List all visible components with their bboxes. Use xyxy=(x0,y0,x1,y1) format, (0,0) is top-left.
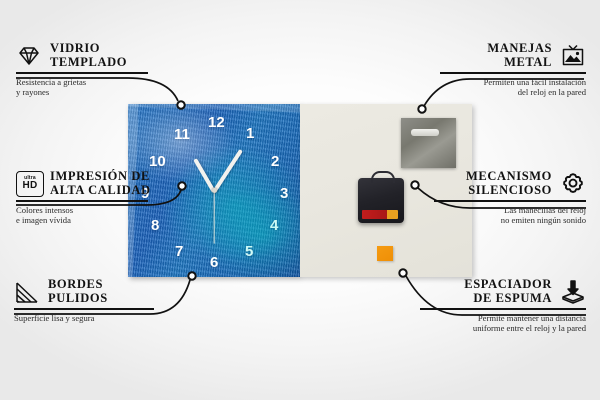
arrow-onto-pad-icon xyxy=(560,279,586,305)
callout-vidrio-templado[interactable]: VIDRIO TEMPLADO Resistencia a grietas y … xyxy=(16,42,148,98)
callout-rule xyxy=(434,200,586,202)
clock-numeral-6: 6 xyxy=(210,255,218,270)
ultra-hd-icon-large-text: HD xyxy=(22,181,37,191)
callout-sub-line2: del reloj en la pared xyxy=(440,87,586,98)
product-image-group: 12 1 2 3 4 5 6 7 8 9 10 11 xyxy=(128,104,472,277)
callout-rule xyxy=(14,308,154,310)
foam-spacer xyxy=(377,246,393,261)
callout-title-line2: PULIDOS xyxy=(48,292,108,306)
clock-movement-box xyxy=(358,178,404,223)
picture-hanger-icon xyxy=(560,43,586,69)
callout-title-line1: ESPACIADOR xyxy=(464,278,552,292)
clock-numeral-7: 7 xyxy=(175,244,183,259)
clock-numeral-5: 5 xyxy=(245,244,253,259)
clock-numeral-3: 3 xyxy=(280,186,288,201)
infographic-canvas: 12 1 2 3 4 5 6 7 8 9 10 11 xyxy=(0,0,600,400)
clock-center-hub xyxy=(212,188,217,193)
callout-rule xyxy=(16,72,148,74)
movement-hanger-loop xyxy=(371,171,395,183)
callout-impresion-alta-calidad[interactable]: ultra HD IMPRESIÓN DE ALTA CALIDAD Color… xyxy=(16,170,148,226)
callout-title-line1: VIDRIO xyxy=(50,42,127,56)
clock-minute-hand xyxy=(212,149,243,193)
callout-rule xyxy=(420,308,586,310)
battery xyxy=(362,210,398,219)
hatched-edge-icon xyxy=(14,279,40,305)
callout-rule xyxy=(440,72,586,74)
clock-numeral-8: 8 xyxy=(151,218,159,233)
callout-title-line2: METAL xyxy=(487,56,552,70)
callout-title-line2: DE ESPUMA xyxy=(464,292,552,306)
callout-espaciador-espuma[interactable]: ESPACIADOR DE ESPUMA Permite mantener un… xyxy=(420,278,586,334)
callout-sub-line2: y rayones xyxy=(16,87,148,98)
clock-front-image: 12 1 2 3 4 5 6 7 8 9 10 11 xyxy=(128,104,300,277)
callout-title-line2: SILENCIOSO xyxy=(466,184,552,198)
callout-sub-line1: Permite mantener una distancia xyxy=(420,313,586,324)
clock-numeral-11: 11 xyxy=(174,127,190,142)
callout-title-line2: ALTA CALIDAD xyxy=(50,184,151,198)
callout-sub-line2: no emiten ningún sonido xyxy=(434,215,586,226)
clock-second-hand xyxy=(213,192,214,244)
callout-sub-line1: Las manecillas del reloj xyxy=(434,205,586,216)
callout-sub-line2: e imagen vívida xyxy=(16,215,148,226)
callout-bordes-pulidos[interactable]: BORDES PULIDOS Superficie lisa y segura xyxy=(14,278,154,323)
ultra-hd-icon: ultra HD xyxy=(16,171,42,197)
callout-sub-line1: Resistencia a grietas xyxy=(16,77,148,88)
hanger-slot xyxy=(411,129,439,136)
clock-numeral-4: 4 xyxy=(270,218,278,233)
callout-title-line1: MECANISMO xyxy=(466,170,552,184)
clock-numeral-12: 12 xyxy=(208,115,225,130)
clock-numeral-10: 10 xyxy=(149,154,166,169)
clock-numeral-1: 1 xyxy=(246,126,254,141)
clock-numeral-2: 2 xyxy=(271,154,279,169)
callout-title-line1: BORDES xyxy=(48,278,108,292)
callout-title-line1: IMPRESIÓN DE xyxy=(50,170,151,184)
gear-icon xyxy=(560,171,586,197)
callout-title-line2: TEMPLADO xyxy=(50,56,127,70)
callout-manejas-metal[interactable]: MANEJAS METAL Permiten una fácil instala… xyxy=(440,42,586,98)
metal-hanger-plate xyxy=(401,118,456,168)
callout-sub-line1: Colores intensos xyxy=(16,205,148,216)
diamond-icon xyxy=(16,43,42,69)
callout-title-line1: MANEJAS xyxy=(487,42,552,56)
callout-sub-line1: Permiten una fácil instalación xyxy=(440,77,586,88)
callout-sub-line2: uniforme entre el reloj y la pared xyxy=(420,323,586,334)
callout-sub-line1: Superficie lisa y segura xyxy=(14,313,154,324)
callout-rule xyxy=(16,200,148,202)
callout-mecanismo-silencioso[interactable]: MECANISMO SILENCIOSO Las manecillas del … xyxy=(434,170,586,226)
